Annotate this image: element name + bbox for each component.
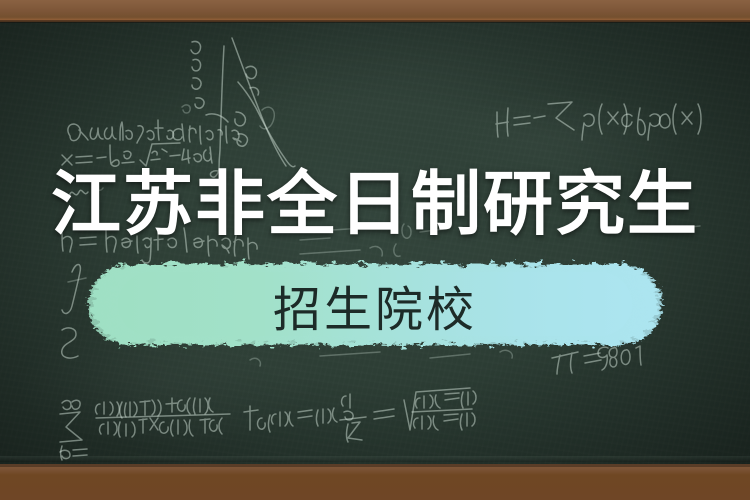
wooden-frame-bottom-lip [0,464,750,467]
chalk-rail [0,456,750,462]
page-title: 江苏非全日制研究生 [0,163,750,245]
subtitle-text: 招生院校 [78,262,672,348]
wooden-frame-bottom [0,464,750,500]
wooden-frame-top [0,0,750,22]
wooden-frame-top-lip [0,20,750,23]
poster-root: 江苏非全日制研究生 招生院校 [0,0,750,500]
